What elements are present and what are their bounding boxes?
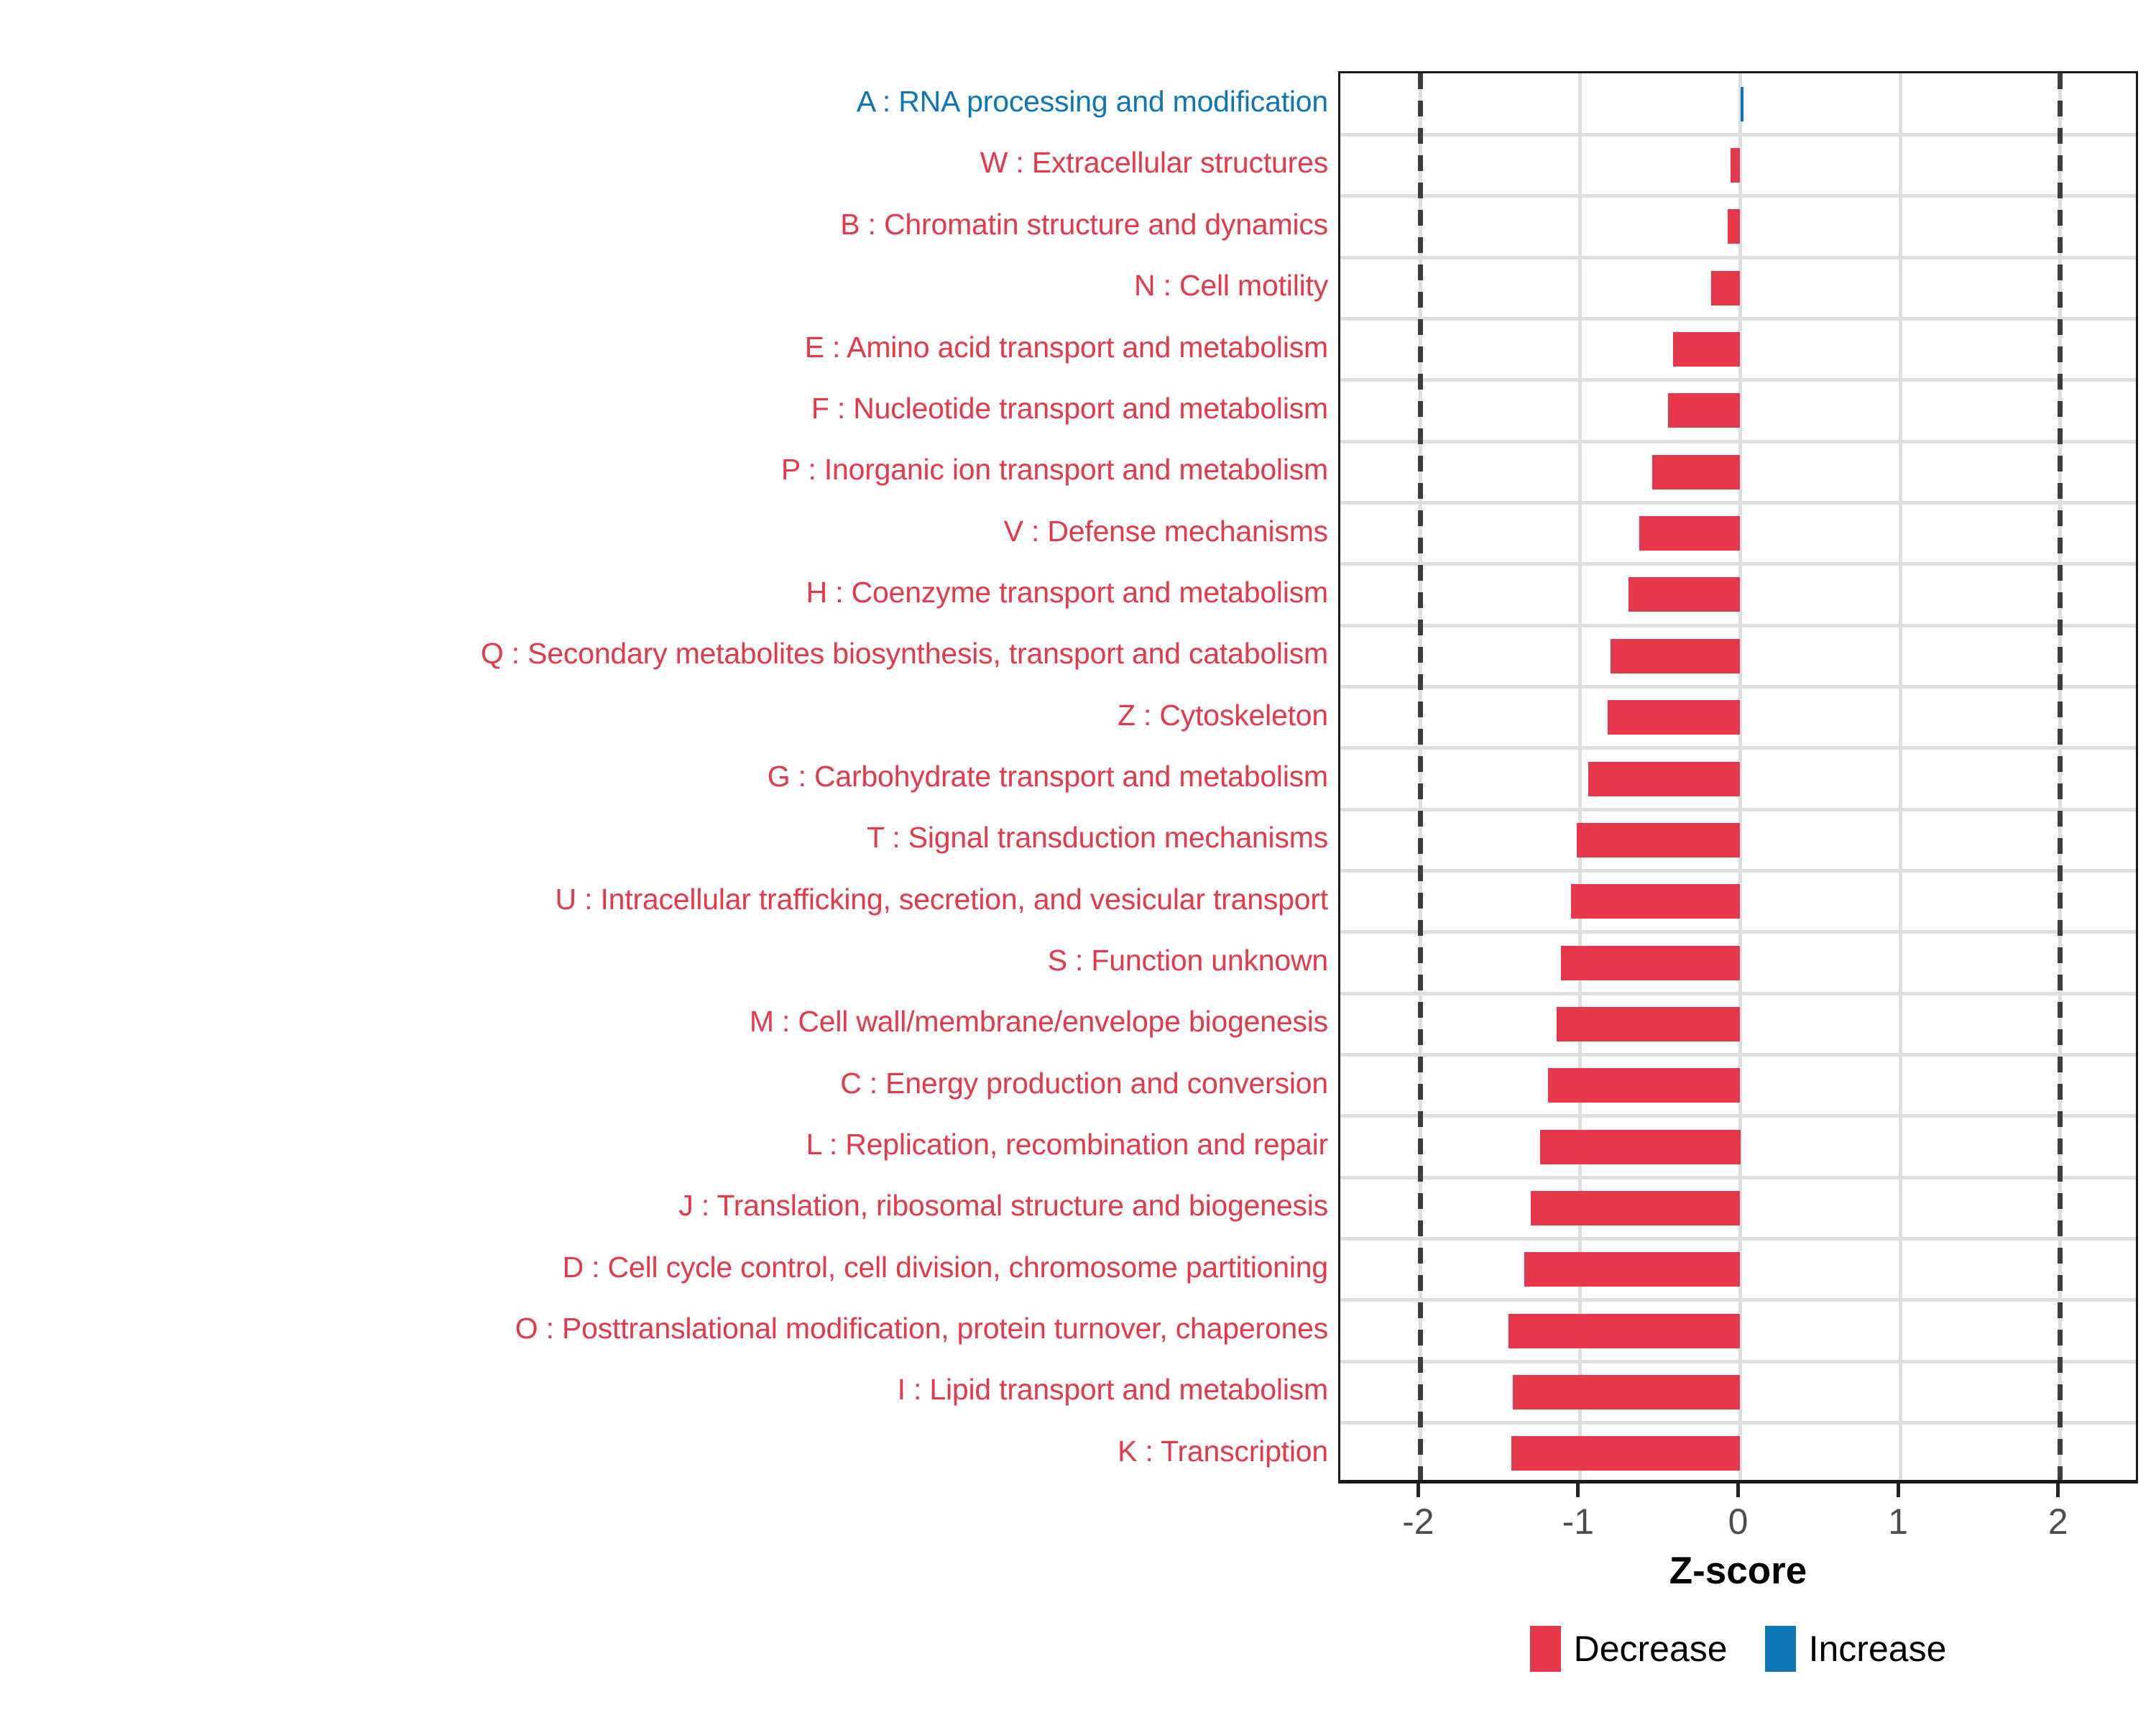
y-axis-label-row: C : Energy production and conversion: [0, 1053, 1338, 1114]
bar-decrease: [1711, 271, 1740, 305]
bar-decrease: [1608, 700, 1741, 735]
y-axis-category-label: V : Defense mechanisms: [1004, 516, 1328, 547]
bar-decrease: [1571, 884, 1741, 919]
bar-decrease: [1548, 1068, 1740, 1103]
bar-decrease: [1524, 1252, 1741, 1287]
x-axis-tick-label: -2: [1402, 1501, 1434, 1542]
y-axis-label-row: O : Posttranslational modification, prot…: [0, 1298, 1338, 1359]
y-axis-category-label: F : Nucleotide transport and metabolism: [811, 393, 1328, 424]
y-axis-label-row: N : Cell motility: [0, 255, 1338, 316]
bar-decrease: [1628, 577, 1741, 612]
bar-decrease: [1588, 762, 1740, 796]
legend-color-swatch: [1530, 1626, 1561, 1672]
y-axis-label-row: G : Carbohydrate transport and metabolis…: [0, 746, 1338, 807]
x-axis-tick-mark: [1897, 1483, 1900, 1497]
bar-decrease: [1540, 1130, 1740, 1164]
y-axis-category-label: P : Inorganic ion transport and metaboli…: [781, 454, 1328, 485]
y-axis-label-row: V : Defense mechanisms: [0, 500, 1338, 561]
x-axis-tick-label: -1: [1562, 1501, 1594, 1542]
bar-increase: [1741, 87, 1743, 121]
y-axis-label-row: P : Inorganic ion transport and metaboli…: [0, 439, 1338, 500]
bar-decrease: [1508, 1314, 1741, 1348]
vertical-gridline: [1899, 73, 1902, 1480]
reference-line-dashed: [1418, 73, 1423, 1480]
y-axis-category-label: D : Cell cycle control, cell division, c…: [563, 1252, 1328, 1283]
y-axis-category-label: U : Intracellular trafficking, secretion…: [555, 884, 1328, 915]
y-axis-category-label: T : Signal transduction mechanisms: [867, 822, 1328, 853]
bar-decrease: [1639, 516, 1740, 551]
y-axis-label-row: Q : Secondary metabolites biosynthesis, …: [0, 623, 1338, 684]
bar-decrease: [1511, 1436, 1740, 1471]
legend-color-swatch: [1765, 1626, 1796, 1672]
y-axis-category-label: K : Transcription: [1118, 1436, 1328, 1467]
y-axis-label-row: A : RNA processing and modification: [0, 71, 1338, 132]
bar-decrease: [1531, 1191, 1741, 1225]
y-axis-label-row: D : Cell cycle control, cell division, c…: [0, 1237, 1338, 1298]
y-axis-label-row: T : Signal transduction mechanisms: [0, 807, 1338, 868]
y-axis-label-row: I : Lipid transport and metabolism: [0, 1359, 1338, 1420]
legend-label: Decrease: [1574, 1628, 1728, 1670]
x-axis-tick-mark: [1416, 1483, 1420, 1497]
bar-decrease: [1731, 148, 1740, 183]
y-axis-label-row: S : Function unknown: [0, 930, 1338, 991]
x-axis-tick-label: 0: [1728, 1501, 1749, 1542]
y-axis-label-row: B : Chromatin structure and dynamics: [0, 194, 1338, 255]
y-axis-category-label: A : RNA processing and modification: [857, 86, 1328, 117]
y-axis-category-label: I : Lipid transport and metabolism: [898, 1374, 1328, 1405]
y-axis-label-row: J : Translation, ribosomal structure and…: [0, 1175, 1338, 1236]
y-axis-label-row: K : Transcription: [0, 1421, 1338, 1482]
y-axis-label-row: F : Nucleotide transport and metabolism: [0, 378, 1338, 439]
bar-decrease: [1561, 946, 1740, 980]
bar-decrease: [1557, 1007, 1741, 1041]
y-axis-label-row: L : Replication, recombination and repai…: [0, 1114, 1338, 1175]
chart-figure: A : RNA processing and modificationW : E…: [0, 0, 2156, 1725]
y-axis-label-row: M : Cell wall/membrane/envelope biogenes…: [0, 991, 1338, 1052]
y-axis-category-label: H : Coenzyme transport and metabolism: [806, 577, 1328, 608]
y-axis-label-row: H : Coenzyme transport and metabolism: [0, 562, 1338, 623]
bar-decrease: [1652, 455, 1740, 489]
reference-line-dashed: [2058, 73, 2063, 1480]
bar-decrease: [1673, 332, 1740, 367]
bar-decrease: [1577, 823, 1740, 857]
y-axis-category-label: G : Carbohydrate transport and metabolis…: [768, 761, 1328, 792]
x-axis-tick-mark: [1736, 1483, 1740, 1497]
y-axis-category-label: S : Function unknown: [1048, 945, 1328, 976]
y-axis-label-row: W : Extracellular structures: [0, 132, 1338, 193]
bar-decrease: [1728, 209, 1741, 244]
legend-label: Increase: [1809, 1628, 1947, 1670]
x-axis-title: Z-score: [1338, 1549, 2138, 1593]
chart-legend: DecreaseIncrease: [1338, 1626, 2138, 1672]
y-axis-category-label: O : Posttranslational modification, prot…: [515, 1313, 1328, 1344]
bar-decrease: [1611, 639, 1740, 673]
x-axis-tick-mark: [1576, 1483, 1580, 1497]
bar-decrease: [1513, 1375, 1740, 1409]
y-axis-category-label: E : Amino acid transport and metabolism: [805, 332, 1328, 363]
y-axis-category-label: N : Cell motility: [1134, 270, 1328, 301]
bar-decrease: [1668, 393, 1740, 428]
y-axis-category-label: L : Replication, recombination and repai…: [806, 1129, 1328, 1160]
y-axis-category-label: B : Chromatin structure and dynamics: [840, 209, 1328, 240]
x-axis-tick-label: 2: [2048, 1501, 2068, 1542]
y-axis-label-row: Z : Cytoskeleton: [0, 684, 1338, 745]
legend-item[interactable]: Decrease: [1530, 1626, 1728, 1672]
plot-panel: [1338, 71, 2138, 1482]
legend-item[interactable]: Increase: [1765, 1626, 1947, 1672]
y-axis-category-label: Q : Secondary metabolites biosynthesis, …: [481, 638, 1328, 669]
y-axis-label-row: U : Intracellular trafficking, secretion…: [0, 868, 1338, 929]
y-axis-category-label: Z : Cytoskeleton: [1118, 700, 1328, 731]
x-axis-tick-mark: [2056, 1483, 2060, 1497]
y-axis-category-label: J : Translation, ribosomal structure and…: [678, 1190, 1328, 1221]
y-axis-category-labels: A : RNA processing and modificationW : E…: [0, 71, 1338, 1482]
x-axis-tick-label: 1: [1888, 1501, 1908, 1542]
y-axis-category-label: W : Extracellular structures: [980, 147, 1328, 178]
y-axis-label-row: E : Amino acid transport and metabolism: [0, 316, 1338, 377]
y-axis-category-label: C : Energy production and conversion: [840, 1068, 1328, 1099]
y-axis-category-label: M : Cell wall/membrane/envelope biogenes…: [750, 1006, 1328, 1037]
